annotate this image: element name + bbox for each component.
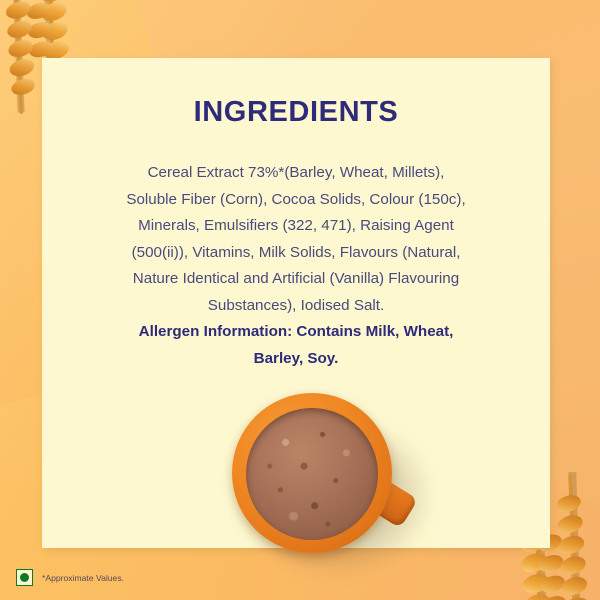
page-title: INGREDIENTS	[42, 96, 550, 129]
ingredients-text: Cereal Extract 73%*(Barley, Wheat, Mille…	[76, 160, 516, 372]
ingredient-line: Cereal Extract 73%*(Barley, Wheat, Mille…	[76, 160, 516, 187]
ingredient-line: Minerals, Emulsifiers (322, 471), Raisin…	[76, 213, 516, 240]
mug-body	[232, 393, 392, 553]
chocolate-drink-mug	[228, 388, 418, 573]
footer: *Approximate Values.	[16, 569, 124, 586]
ingredient-line: Substances), Iodised Salt.	[76, 293, 516, 320]
ingredient-line: (500(ii)), Vitamins, Milk Solids, Flavou…	[76, 240, 516, 267]
allergen-line: Barley, Soy.	[76, 346, 516, 373]
drink-froth-texture	[246, 408, 378, 540]
footnote-text: *Approximate Values.	[42, 573, 124, 583]
vegetarian-dot	[20, 573, 29, 582]
ingredient-line: Soluble Fiber (Corn), Cocoa Solids, Colo…	[76, 187, 516, 214]
ingredient-line: Nature Identical and Artificial (Vanilla…	[76, 266, 516, 293]
mug-drink-surface	[246, 408, 378, 540]
ingredients-poster: INGREDIENTS Cereal Extract 73%*(Barley, …	[0, 0, 600, 600]
allergen-line: Allergen Information: Contains Milk, Whe…	[76, 319, 516, 346]
vegetarian-mark-icon	[16, 569, 33, 586]
